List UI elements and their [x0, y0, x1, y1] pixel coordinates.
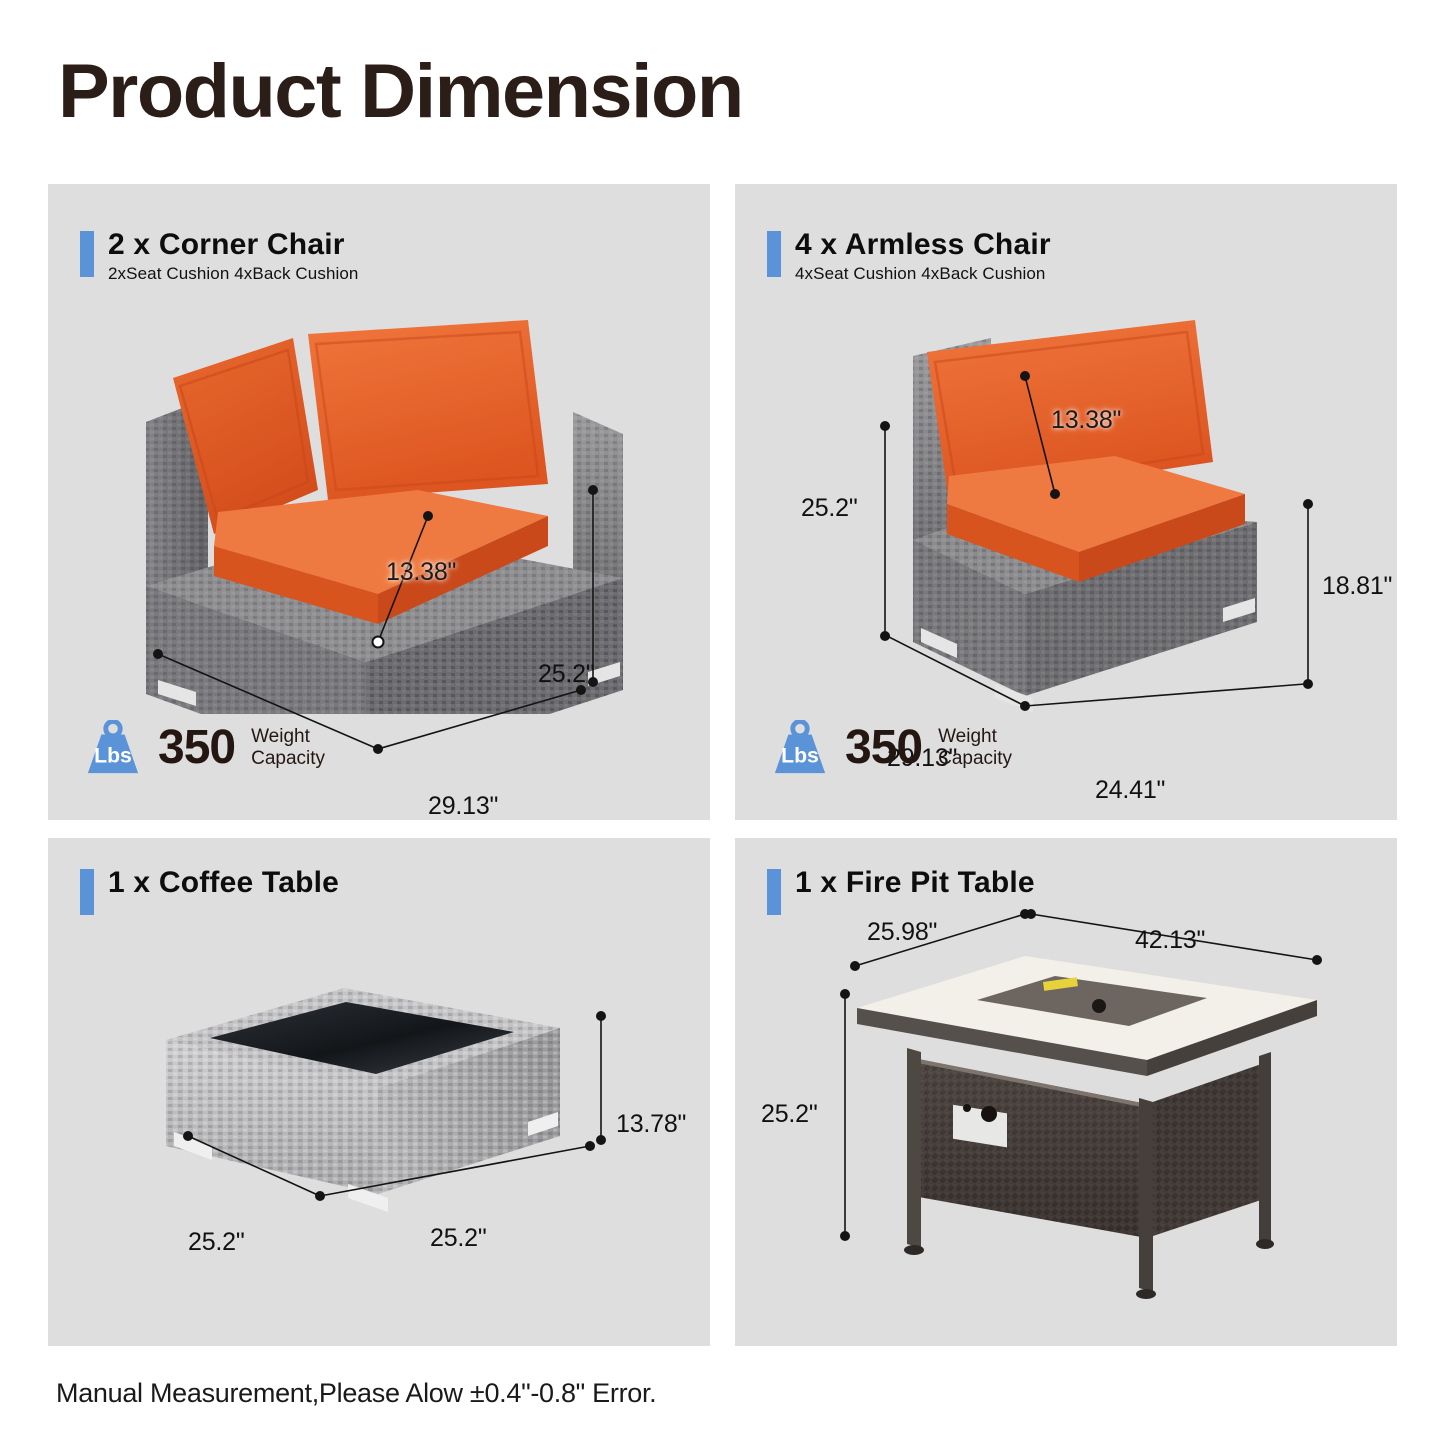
- weight-value: 350: [845, 724, 922, 772]
- product-panels-grid: 2 x Corner Chair 2xSeat Cushion 4xBack C…: [48, 184, 1397, 1346]
- dimension-label-height: 25.2": [538, 660, 595, 689]
- weight-caption-line1: Weight: [251, 726, 310, 747]
- dimension-label-cushion-thickness: 13.38": [1051, 406, 1121, 435]
- weight-caption: Weight Capacity: [251, 726, 325, 770]
- lbs-weight-icon: Lbs: [771, 720, 829, 776]
- weight-caption: Weight Capacity: [938, 726, 1012, 770]
- dimension-label-height: 25.2": [761, 1100, 818, 1129]
- dimension-label-height: 25.2": [801, 494, 858, 523]
- weight-caption-line2: Capacity: [251, 748, 325, 769]
- dimension-label-cushion-thickness: 13.38": [386, 558, 456, 587]
- dimension-label-depth-right: 25.2": [430, 1224, 487, 1253]
- page-title: Product Dimension: [58, 48, 743, 135]
- dimension-label-height: 13.78": [616, 1110, 686, 1139]
- coffee-table-dimension-lines: [48, 838, 710, 1346]
- infographic-page: Product Dimension 2 x Corner Chair 2xSea…: [0, 0, 1445, 1445]
- panel-fire-pit-table: 1 x Fire Pit Table: [735, 838, 1397, 1346]
- lbs-weight-icon: Lbs: [84, 720, 142, 776]
- weight-capacity-badge-corner-chair: Lbs 350 Weight Capacity: [84, 720, 325, 776]
- dimension-label-width-front: 24.41": [1095, 776, 1165, 805]
- dimension-label-seat-height: 18.81": [1322, 572, 1392, 601]
- weight-capacity-badge-armless-chair: Lbs 350 Weight Capacity: [771, 720, 1012, 776]
- dimension-label-depth-left: 25.98": [867, 918, 937, 947]
- svg-text:Lbs: Lbs: [781, 743, 819, 767]
- dimension-label-depth-right: 29.13": [428, 792, 498, 820]
- weight-caption-line1: Weight: [938, 726, 997, 747]
- panel-coffee-table: 1 x Coffee Table: [48, 838, 710, 1346]
- footer-note: Manual Measurement,Please Alow ±0.4"-0.8…: [56, 1378, 656, 1409]
- weight-caption-line2: Capacity: [938, 748, 1012, 769]
- svg-text:Lbs: Lbs: [94, 743, 132, 767]
- dimension-label-width-left: 25.2": [188, 1228, 245, 1257]
- panel-corner-chair: 2 x Corner Chair 2xSeat Cushion 4xBack C…: [48, 184, 710, 820]
- fire-pit-table-dimension-lines: [735, 838, 1397, 1346]
- dimension-label-width-right: 42.13": [1135, 926, 1205, 955]
- panel-armless-chair: 4 x Armless Chair 4xSeat Cushion 4xBack …: [735, 184, 1397, 820]
- weight-value: 350: [158, 724, 235, 772]
